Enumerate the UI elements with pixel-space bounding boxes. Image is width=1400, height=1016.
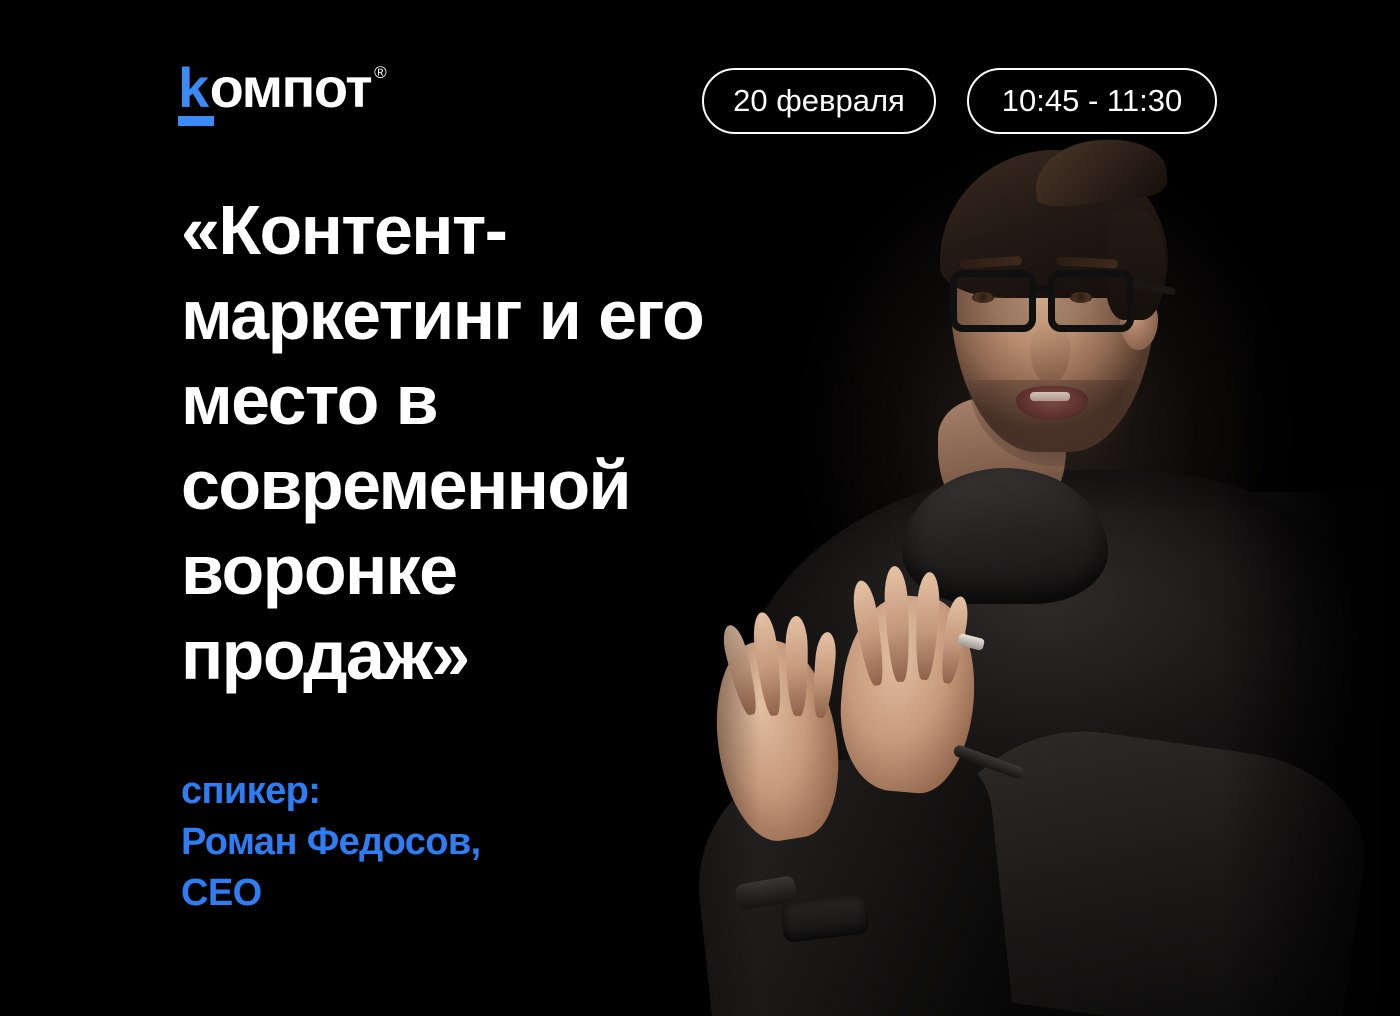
logo-k-letter: k xyxy=(178,62,208,114)
title-line: продаж» xyxy=(181,613,781,698)
event-poster: k омпот ® 20 февраля 10:45 - 11:30 «Конт… xyxy=(0,0,1400,1016)
event-meta-badges: 20 февраля 10:45 - 11:30 xyxy=(702,68,1217,134)
page-title: «Контент- маркетинг и его место в соврем… xyxy=(181,188,781,698)
kompot-logo[interactable]: k омпот ® xyxy=(178,62,387,114)
speaker-block: спикер: Роман Федосов, CEO xyxy=(181,766,481,919)
logo-k-mark: k xyxy=(178,62,208,114)
title-line: маркетинг и его xyxy=(181,273,781,358)
speaker-name: Роман Федосов, xyxy=(181,817,481,868)
poster-content: k омпот ® 20 февраля 10:45 - 11:30 «Конт… xyxy=(0,0,1400,1016)
logo-underline xyxy=(178,116,214,126)
time-badge: 10:45 - 11:30 xyxy=(967,68,1217,134)
title-line: место в xyxy=(181,358,781,443)
registered-trademark-icon: ® xyxy=(374,64,387,81)
title-line: «Контент- xyxy=(181,188,781,273)
speaker-role: CEO xyxy=(181,868,481,919)
speaker-label: спикер: xyxy=(181,766,481,817)
date-badge: 20 февраля xyxy=(702,68,936,134)
title-line: современной xyxy=(181,443,781,528)
title-line: воронке xyxy=(181,528,781,613)
logo-wordmark: омпот xyxy=(210,62,371,114)
